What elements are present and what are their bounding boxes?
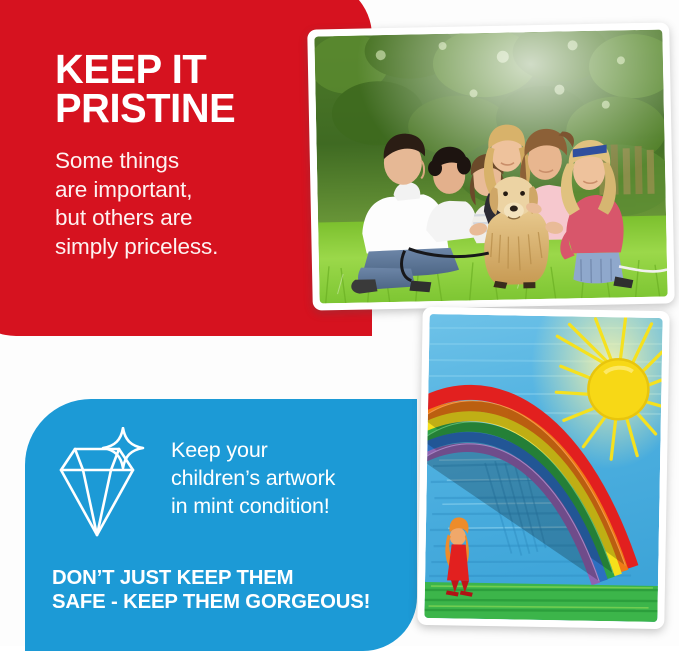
red-panel-body-text: Some things are important, but others ar… <box>55 147 315 262</box>
blue-panel-body-text: Keep your children’s artwork in mint con… <box>171 437 335 521</box>
blue-panel-content: Keep your children’s artwork in mint con… <box>45 421 335 545</box>
blue-panel-tagline: DON’T JUST KEEP THEM SAFE - KEEP THEM GO… <box>52 566 370 614</box>
family-photo-image <box>314 30 667 304</box>
promo-banner: KEEP IT PRISTINE Some things are importa… <box>0 0 679 646</box>
childrens-crayon-drawing-photo <box>417 307 670 629</box>
red-panel-content: KEEP IT PRISTINE Some things are importa… <box>55 50 315 262</box>
page-title: KEEP IT PRISTINE <box>55 50 307 129</box>
crayon-drawing-image <box>424 314 662 622</box>
diamond-sparkle-icon <box>45 427 149 545</box>
blue-promo-panel: Keep your children’s artwork in mint con… <box>25 399 417 651</box>
family-with-dog-photo <box>307 22 675 310</box>
